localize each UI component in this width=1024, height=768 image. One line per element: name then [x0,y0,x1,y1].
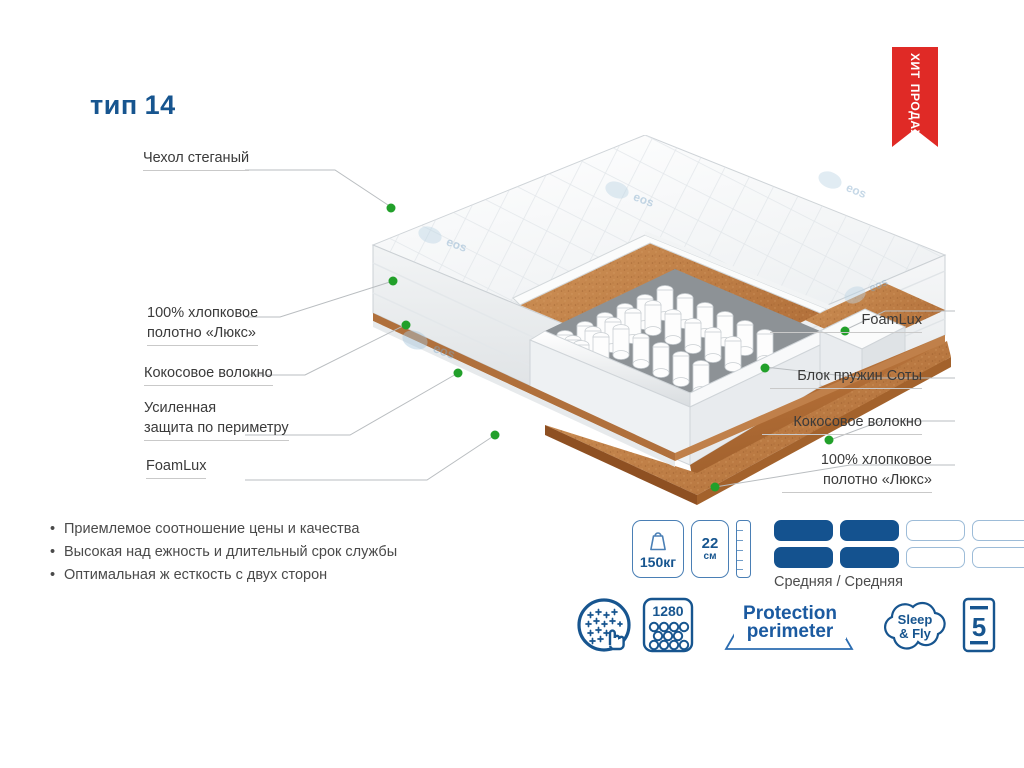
firmness-bar [906,520,965,541]
firmness-bar [774,520,833,541]
bullet-marker: • [50,567,64,583]
firmness-side-b [774,547,1024,568]
height-value: 22 [702,536,719,551]
label-coir-top: Кокосовое волокно [144,363,273,383]
title-prefix: тип [90,90,138,120]
protection-perimeter-badge: Protection perimeter [712,597,862,653]
bullet-marker: • [50,544,64,560]
spring-count-badge: 1280 [642,597,694,653]
bullet-item: • Оптимальная ж есткость с двух сторон [50,567,397,583]
svg-text:eos: eos [844,180,869,201]
ribbon-line-2: ПРОДАЖ [908,84,922,141]
independent-springs-icon [576,597,632,653]
warranty-years-value: 5 [972,612,986,642]
max-load-badge: 150кг [632,520,684,578]
ruler-icon [736,520,751,578]
bullet-text: Приемлемое соотношение цены и качества [64,521,359,537]
label-spring-block: Блок пружин Соты [770,366,922,386]
label-cotton-bottom: 100% хлопковое полотно «Люкс» [782,450,932,490]
page-title: тип14 [90,90,176,121]
label-coir-bottom: Кокосовое волокно [762,412,922,432]
label-cover: Чехол стеганый [143,148,249,168]
height-unit: см [704,551,717,563]
firmness-side-a [774,520,1024,541]
spec-icon-row: 150кг 22 см [632,520,1024,590]
label-foamlux-left: FoamLux [146,456,206,476]
badge-row: 1280 Protection perimeter Sleep [576,597,996,653]
warranty-badge: 5 [962,597,996,653]
firmness-bar [840,520,899,541]
bullet-item: • Высокая над ежность и длительный срок … [50,544,397,560]
firmness-bar [774,547,833,568]
firmness-bar [972,547,1024,568]
protection-line-2: perimeter [747,621,834,642]
sleep-and-fly-badge: Sleep & Fly [878,598,952,652]
firmness-indicator: Средняя / Средняя [774,520,1024,590]
feature-bullet-list: • Приемлемое соотношение цены и качества… [50,521,397,590]
bullet-text: Оптимальная ж есткость с двух сторон [64,567,327,583]
max-load-value: 150кг [640,555,676,569]
label-foamlux-right: FoamLux [770,310,922,330]
firmness-bar [906,547,965,568]
firmness-bar [972,520,1024,541]
bestseller-ribbon: ХИТ ПРОДАЖ [892,47,938,147]
sleep-line-2: & Fly [899,626,932,641]
firmness-label: Средняя / Средняя [774,574,1024,590]
weight-icon [647,529,669,553]
label-cotton-top: 100% хлопковое полотно «Люкс» [147,303,258,343]
bullet-marker: • [50,521,64,537]
height-badge: 22 см [691,520,729,578]
bullet-text: Высокая над ежность и длительный срок сл… [64,544,397,560]
spring-count-value: 1280 [652,603,683,619]
sleep-line-1: Sleep [898,612,933,627]
ribbon-text: ХИТ ПРОДАЖ [892,47,938,147]
ribbon-line-1: ХИТ [908,53,922,79]
title-number: 14 [145,90,176,120]
bullet-item: • Приемлемое соотношение цены и качества [50,521,397,537]
firmness-bar [840,547,899,568]
label-perimeter-protection: Усиленная защита по периметру [144,398,289,438]
